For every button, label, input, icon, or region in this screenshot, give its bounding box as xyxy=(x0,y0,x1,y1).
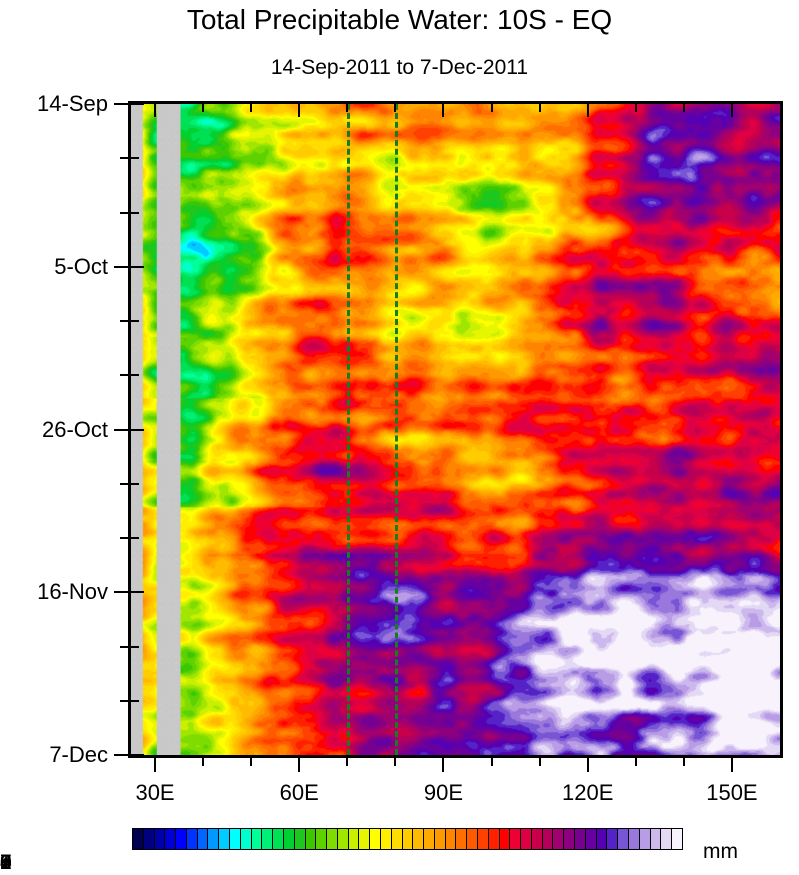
x-tick-minor xyxy=(491,757,493,766)
colorbar-swatches xyxy=(132,828,683,850)
x-tick-top xyxy=(635,104,637,112)
x-tick-top xyxy=(250,104,252,112)
x-tick-label: 150E xyxy=(706,780,757,806)
hovmoller-plot-area[interactable] xyxy=(128,101,783,758)
colorbar-swatch xyxy=(500,829,511,849)
colorbar-swatch xyxy=(478,829,489,849)
x-tick-minor xyxy=(683,757,685,766)
y-tick-label: 14-Sep xyxy=(37,91,108,117)
x-tick-label: 60E xyxy=(280,780,319,806)
x-tick-minor xyxy=(635,757,637,766)
heatmap-field xyxy=(131,104,780,755)
colorbar-swatch xyxy=(586,829,597,849)
colorbar-swatch xyxy=(553,829,564,849)
colorbar-swatch xyxy=(295,829,306,849)
colorbar-swatch xyxy=(338,829,349,849)
x-tick-top xyxy=(298,104,300,117)
colorbar-swatch xyxy=(456,829,467,849)
y-tick-major xyxy=(114,591,129,593)
colorbar-swatch xyxy=(413,829,424,849)
y-tick-inner xyxy=(131,646,139,648)
colorbar-swatch xyxy=(241,829,252,849)
colorbar-swatch xyxy=(252,829,263,849)
colorbar-swatch xyxy=(306,829,317,849)
y-tick-major xyxy=(114,103,129,105)
colorbar-swatch xyxy=(575,829,586,849)
x-tick-major xyxy=(154,757,156,772)
x-tick-top xyxy=(491,104,493,112)
y-tick-minor xyxy=(120,157,129,159)
x-tick-major xyxy=(731,757,733,772)
x-tick-minor xyxy=(346,757,348,766)
colorbar-swatch xyxy=(349,829,360,849)
y-tick-minor xyxy=(120,646,129,648)
colorbar-swatch xyxy=(133,829,144,849)
y-tick-inner xyxy=(131,429,144,431)
colorbar-swatch xyxy=(198,829,209,849)
x-tick-minor xyxy=(394,757,396,766)
x-tick-minor xyxy=(250,757,252,766)
y-tick-major xyxy=(114,429,129,431)
y-tick-label: 5-Oct xyxy=(54,254,108,280)
y-tick-inner xyxy=(131,103,144,105)
colorbar-swatch xyxy=(521,829,532,849)
colorbar-swatch xyxy=(327,829,338,849)
y-tick-inner xyxy=(131,374,139,376)
page-title: Total Precipitable Water: 10S - EQ xyxy=(0,4,799,36)
y-tick-inner xyxy=(131,320,139,322)
colorbar-swatch xyxy=(262,829,273,849)
colorbar-swatch xyxy=(597,829,608,849)
y-tick-inner xyxy=(131,537,139,539)
colorbar-swatch xyxy=(651,829,662,849)
colorbar-swatch xyxy=(607,829,618,849)
y-tick-inner xyxy=(131,591,144,593)
colorbar-swatch xyxy=(424,829,435,849)
x-tick-top xyxy=(442,104,444,117)
figure-subtitle: 14-Sep-2011 to 7-Dec-2011 xyxy=(0,56,799,80)
y-tick-minor xyxy=(120,212,129,214)
y-tick-major xyxy=(114,266,129,268)
colorbar[interactable] xyxy=(132,828,683,850)
colorbar-units-label: mm xyxy=(703,840,738,864)
colorbar-swatch xyxy=(359,829,370,849)
x-tick-top xyxy=(539,104,541,112)
colorbar-swatch xyxy=(284,829,295,849)
colorbar-swatch xyxy=(543,829,554,849)
colorbar-swatch xyxy=(176,829,187,849)
x-tick-minor xyxy=(202,757,204,766)
colorbar-swatch xyxy=(165,829,176,849)
y-tick-inner xyxy=(131,700,139,702)
y-tick-minor xyxy=(120,700,129,702)
x-tick-major xyxy=(442,757,444,772)
x-tick-major xyxy=(298,757,300,772)
y-tick-minor xyxy=(120,374,129,376)
x-tick-top xyxy=(731,104,733,117)
y-tick-inner xyxy=(131,157,139,159)
x-tick-major xyxy=(587,757,589,772)
colorbar-swatch xyxy=(672,829,682,849)
colorbar-swatch xyxy=(661,829,672,849)
colorbar-swatch xyxy=(187,829,198,849)
colorbar-swatch xyxy=(392,829,403,849)
x-tick-top xyxy=(394,104,396,112)
colorbar-swatch xyxy=(564,829,575,849)
colorbar-swatch xyxy=(510,829,521,849)
y-tick-minor xyxy=(120,320,129,322)
colorbar-swatch xyxy=(273,829,284,849)
x-tick-minor xyxy=(539,757,541,766)
colorbar-swatch xyxy=(230,829,241,849)
colorbar-swatch xyxy=(435,829,446,849)
y-tick-inner xyxy=(131,483,139,485)
colorbar-swatch xyxy=(370,829,381,849)
colorbar-swatch xyxy=(532,829,543,849)
figure-root: Total Precipitable Water: 10S - EQ 14-Se… xyxy=(0,0,799,873)
y-tick-label: 26-Oct xyxy=(42,417,108,443)
y-tick-label: 7-Dec xyxy=(49,742,108,768)
x-tick-top xyxy=(346,104,348,112)
y-tick-inner xyxy=(131,266,144,268)
colorbar-swatch xyxy=(618,829,629,849)
colorbar-tick-label: 65 xyxy=(0,851,12,875)
x-tick-label: 120E xyxy=(562,780,613,806)
colorbar-swatch xyxy=(446,829,457,849)
colorbar-swatch xyxy=(489,829,500,849)
y-tick-minor xyxy=(120,483,129,485)
colorbar-swatch xyxy=(144,829,155,849)
colorbar-swatch xyxy=(640,829,651,849)
colorbar-swatch xyxy=(467,829,478,849)
colorbar-swatch xyxy=(403,829,414,849)
x-tick-top xyxy=(154,104,156,117)
colorbar-swatch xyxy=(219,829,230,849)
colorbar-swatch xyxy=(629,829,640,849)
colorbar-swatch xyxy=(381,829,392,849)
x-tick-label: 90E xyxy=(424,780,463,806)
colorbar-swatch xyxy=(316,829,327,849)
colorbar-swatch xyxy=(155,829,166,849)
x-tick-top xyxy=(683,104,685,112)
colorbar-swatch xyxy=(208,829,219,849)
x-tick-label: 30E xyxy=(135,780,174,806)
x-tick-top xyxy=(202,104,204,112)
y-tick-inner xyxy=(131,212,139,214)
y-tick-major xyxy=(114,754,129,756)
y-tick-minor xyxy=(120,537,129,539)
x-tick-top xyxy=(587,104,589,117)
y-tick-label: 16-Nov xyxy=(37,579,108,605)
y-tick-inner xyxy=(131,754,144,756)
